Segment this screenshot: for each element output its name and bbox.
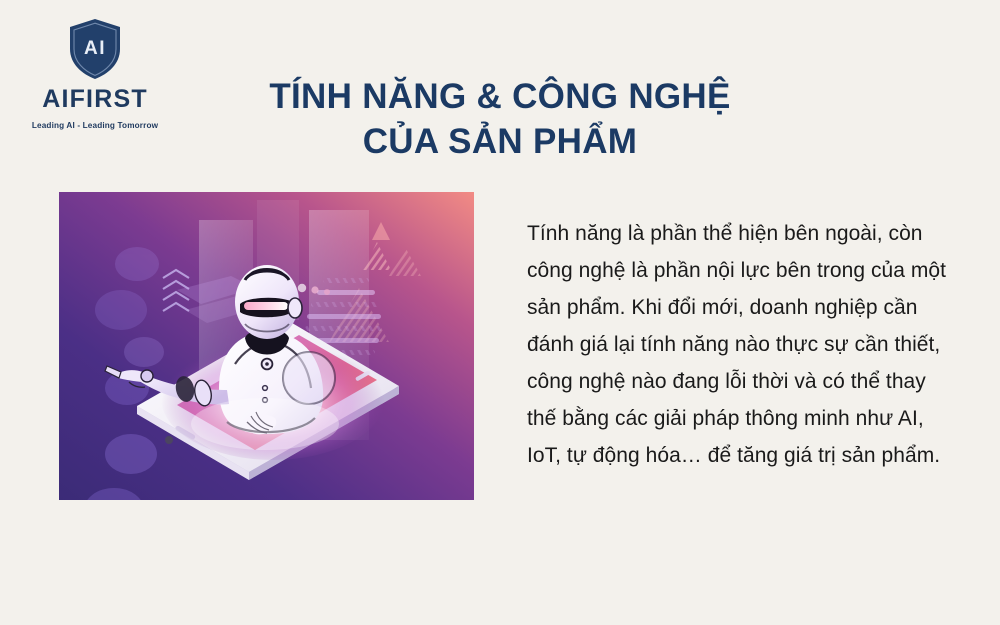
shield-icon: AI [67, 18, 123, 80]
brand-tagline: Leading AI - Leading Tomorrow [32, 121, 158, 130]
brand-logo: AI AIFIRST Leading AI - Leading Tomorrow [24, 18, 166, 134]
shield-letters: AI [84, 38, 106, 59]
brand-wordmark: AIFIRST [42, 85, 148, 114]
page-title-line-1: TÍNH NĂNG & CÔNG NGHỆ [170, 75, 830, 119]
robot-smartphone-illustration [59, 192, 474, 500]
body-paragraph: Tính năng là phần thể hiện bên ngoài, cò… [527, 215, 947, 474]
page-title: TÍNH NĂNG & CÔNG NGHỆ CỦA SẢN PHẨM [170, 75, 830, 164]
illustration-artwork [59, 192, 474, 500]
page-title-line-2: CỦA SẢN PHẨM [170, 120, 830, 164]
